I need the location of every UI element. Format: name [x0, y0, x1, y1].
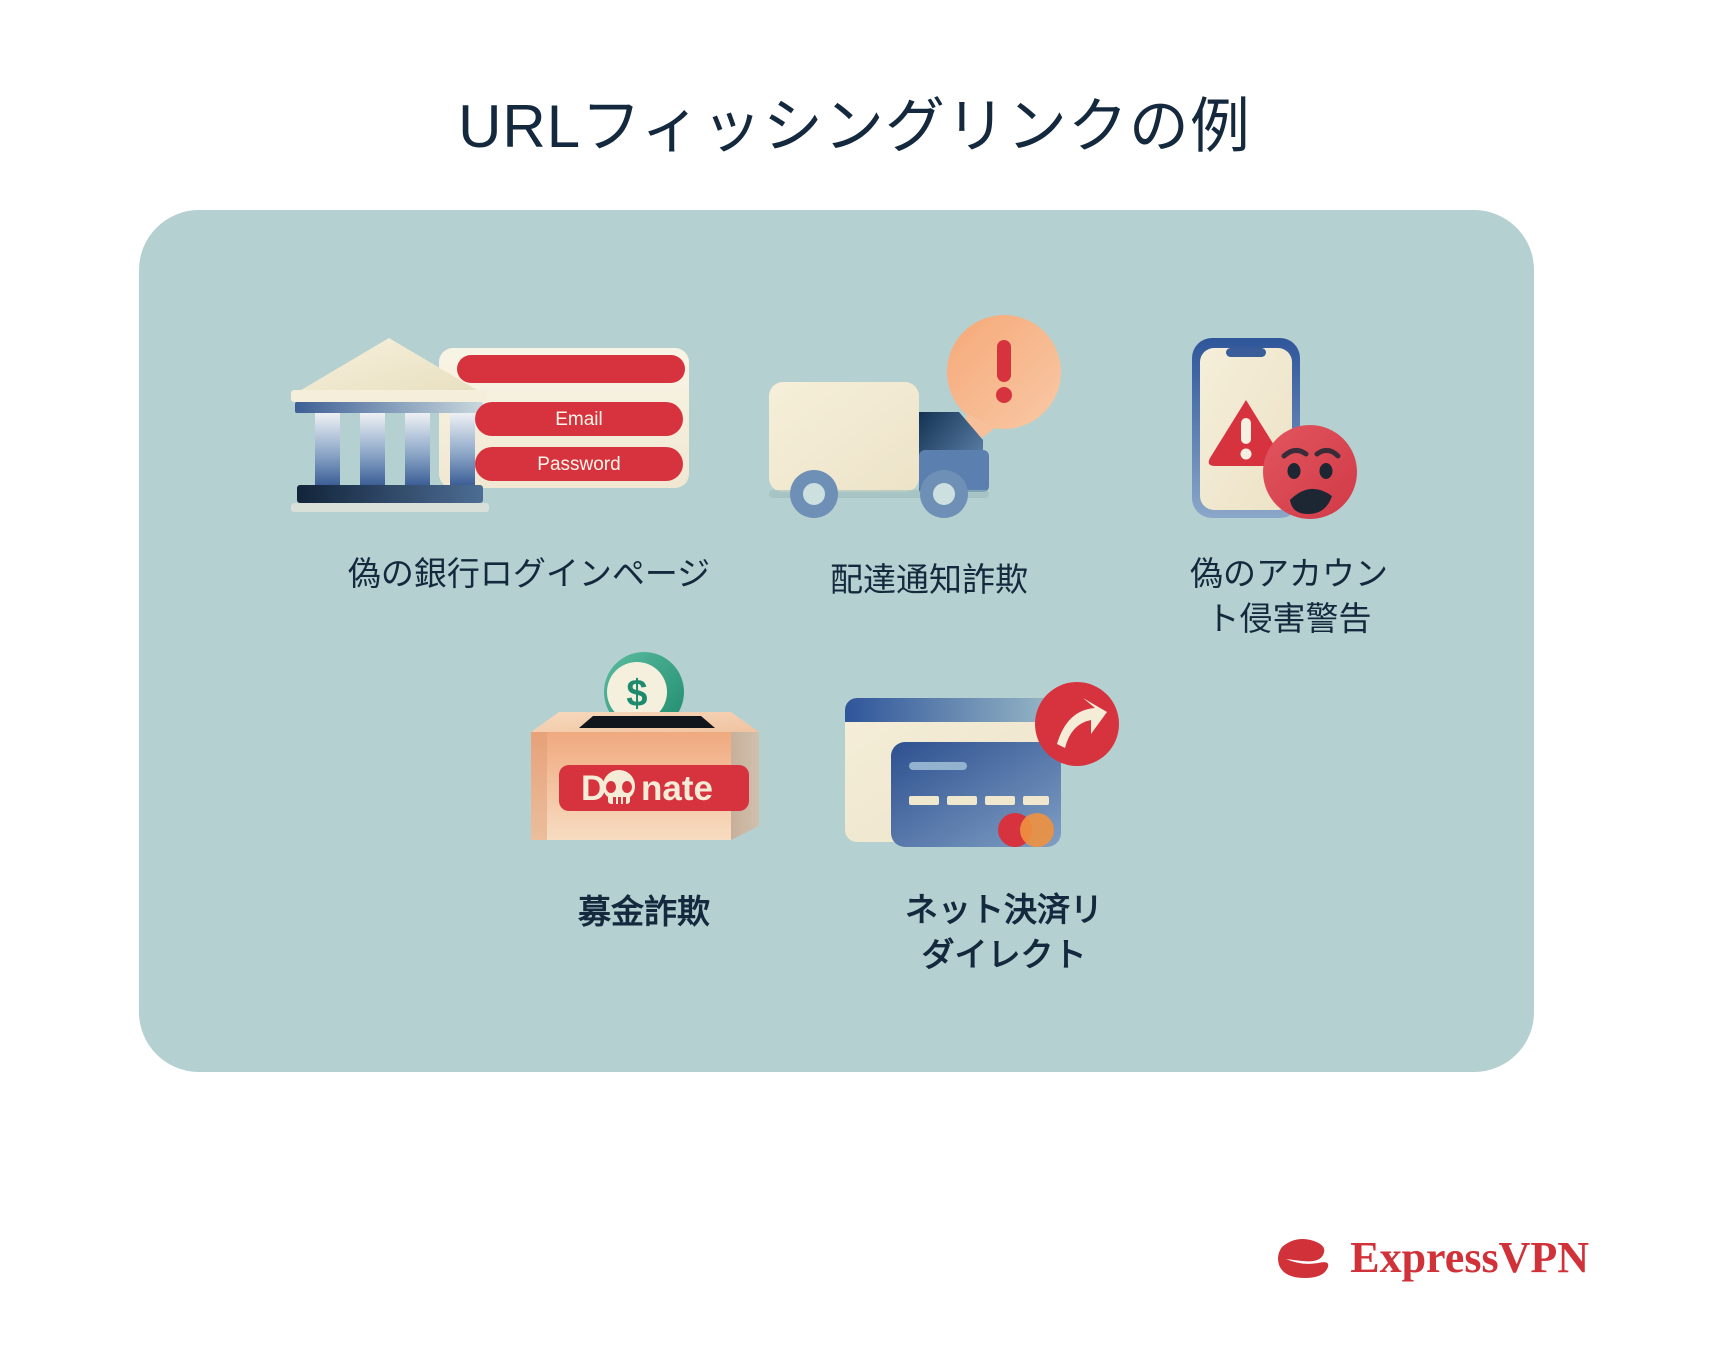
item-bank: Email Password 偽の銀行ログインページ [289, 330, 769, 597]
donation-box-illustration: $ D [469, 640, 819, 870]
brand-logo: ExpressVPN [1274, 1232, 1589, 1283]
bank-login-illustration: Email Password [289, 330, 769, 530]
phone-warning-sad-face-icon [1114, 330, 1464, 530]
payment-redirect-illustration [839, 680, 1169, 870]
bank-email-field-label: Email [555, 409, 603, 430]
card-network-logo-icon [998, 813, 1054, 847]
item-delivery-label: 配達通知詐欺 [759, 558, 1099, 603]
item-redirect-label: ネット決済リ ダイレクト [839, 888, 1169, 977]
item-delivery: 配達通知詐欺 [759, 310, 1099, 603]
donate-text-before: D [581, 769, 606, 808]
item-donation: $ D [469, 640, 819, 935]
infographic-panel: Email Password 偽の銀行ログインページ [139, 210, 1534, 1072]
donate-text-after: nate [641, 769, 713, 808]
delivery-truck-alert-icon [759, 310, 1099, 530]
item-donation-label: 募金詐欺 [469, 890, 819, 935]
bank-password-field-label: Password [537, 454, 620, 475]
item-redirect: ネット決済リ ダイレクト [839, 680, 1169, 977]
redirect-arrow-badge [1035, 682, 1119, 766]
coin-dollar-glyph: $ [626, 673, 647, 715]
bank-login-form-icon: Email Password [289, 330, 769, 530]
phone-warning-illustration [1114, 330, 1464, 530]
delivery-truck-illustration [759, 310, 1099, 530]
browser-title-bar [845, 698, 1059, 722]
item-account-label: 偽のアカウン ト侵害警告 [1114, 552, 1464, 641]
donation-box-skull-icon: $ D [469, 640, 819, 870]
browser-credit-card-redirect-icon [839, 680, 1169, 870]
item-account: 偽のアカウン ト侵害警告 [1114, 330, 1464, 641]
page-title: URLフィッシングリンクの例 [0, 78, 1709, 165]
item-bank-label: 偽の銀行ログインページ [289, 552, 769, 597]
brand-wordmark: ExpressVPN [1350, 1232, 1589, 1283]
expressvpn-e-logo [1274, 1233, 1336, 1283]
sad-face-icon [1263, 425, 1357, 519]
